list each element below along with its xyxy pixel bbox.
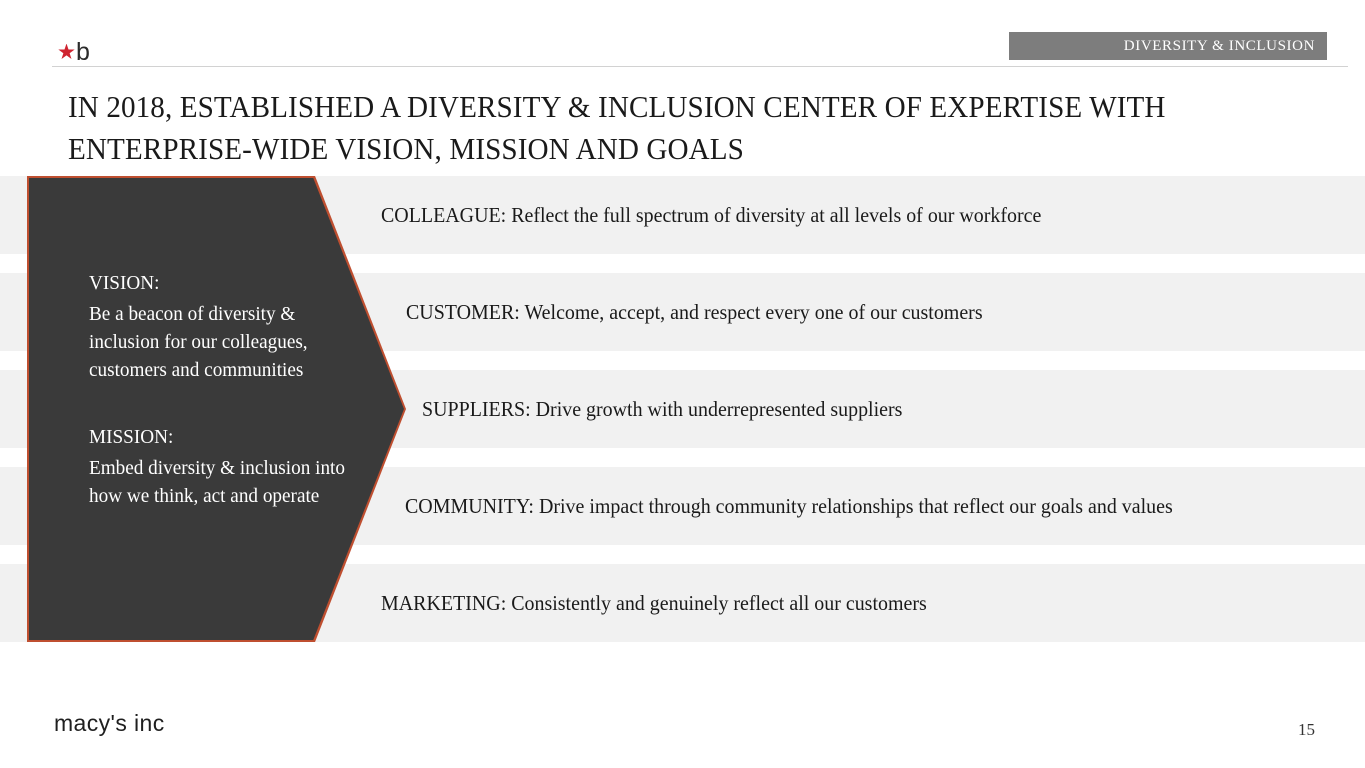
goal-row-text: SUPPLIERS: Drive growth with underrepres… — [422, 397, 902, 422]
mission-body: Embed diversity & inclusion into how we … — [89, 454, 369, 510]
vision-heading: VISION: — [89, 268, 369, 298]
panel-spacer — [89, 384, 381, 422]
page-title: IN 2018, ESTABLISHED A DIVERSITY & INCLU… — [68, 86, 1252, 170]
brand-letter: b — [76, 40, 89, 65]
footer-logo: macy's inc — [54, 712, 165, 735]
arrow-panel-content: VISION: Be a beacon of diversity & inclu… — [89, 268, 381, 510]
header-divider — [52, 66, 1348, 67]
brand-mark: b — [58, 38, 89, 66]
goal-row-text: MARKETING: Consistently and genuinely re… — [381, 591, 927, 616]
star-icon — [58, 44, 75, 61]
goal-row-text: CUSTOMER: Welcome, accept, and respect e… — [406, 300, 983, 325]
goal-row-text: COMMUNITY: Drive impact through communit… — [405, 494, 1173, 519]
mission-heading: MISSION: — [89, 422, 369, 452]
goal-row-text: COLLEAGUE: Reflect the full spectrum of … — [381, 203, 1041, 228]
slide: b DIVERSITY & INCLUSION IN 2018, ESTABLI… — [0, 0, 1365, 768]
page-number: 15 — [1298, 720, 1315, 740]
section-badge: DIVERSITY & INCLUSION — [1009, 32, 1327, 60]
vision-body: Be a beacon of diversity & inclusion for… — [89, 300, 369, 384]
